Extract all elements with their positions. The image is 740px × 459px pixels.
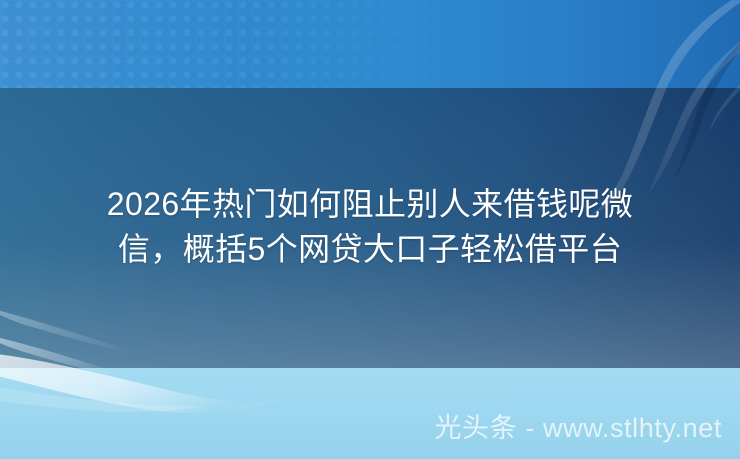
banner-headline: 2026年热门如何阻止别人来借钱呢微 信，概括5个网贷大口子轻松借平台 [0, 182, 740, 272]
site-watermark: 光头条 - www.stlhty.net [0, 409, 722, 447]
promo-banner: 2026年热门如何阻止别人来借钱呢微 信，概括5个网贷大口子轻松借平台 光头条 … [0, 0, 740, 459]
headline-line-2: 信，概括5个网贷大口子轻松借平台 [0, 227, 740, 272]
headline-line-1: 2026年热门如何阻止别人来借钱呢微 [0, 182, 740, 227]
banner-top-band [0, 0, 740, 88]
dot-grid-texture [0, 0, 460, 88]
